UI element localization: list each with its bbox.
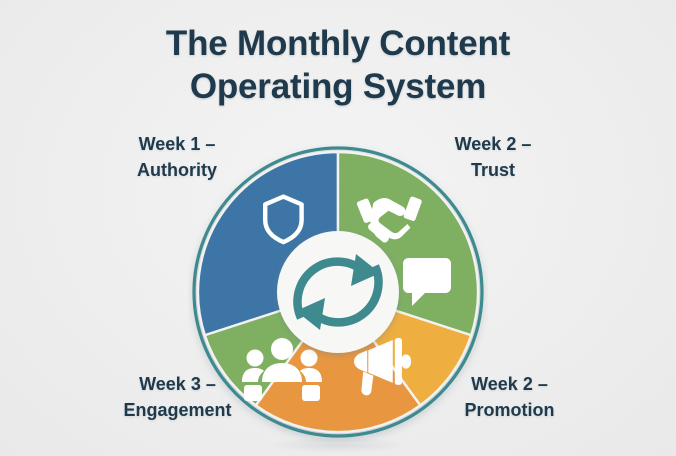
label-authority-line-1: Week 1 –	[139, 134, 216, 154]
label-week-3-engagement: Week 3 – Engagement	[100, 371, 255, 423]
label-week-1-authority: Week 1 – Authority	[112, 131, 242, 183]
label-trust-line-1: Week 2 –	[455, 134, 532, 154]
wheel-base-shadow	[268, 437, 408, 453]
label-week-2-trust: Week 2 – Trust	[428, 131, 558, 183]
label-promotion-line-1: Week 2 –	[471, 374, 548, 394]
label-promotion-line-2: Promotion	[432, 397, 587, 423]
label-authority-line-2: Authority	[112, 157, 242, 183]
slide-canvas: The Monthly Content Operating System	[0, 0, 676, 456]
page-title-line-2: Operating System	[0, 65, 676, 108]
label-engagement-line-1: Week 3 –	[139, 374, 216, 394]
page-title-line-1: The Monthly Content	[0, 22, 676, 65]
page-title: The Monthly Content Operating System	[0, 22, 676, 108]
label-engagement-line-2: Engagement	[100, 397, 255, 423]
label-week-2-promotion: Week 2 – Promotion	[432, 371, 587, 423]
label-trust-line-2: Trust	[428, 157, 558, 183]
